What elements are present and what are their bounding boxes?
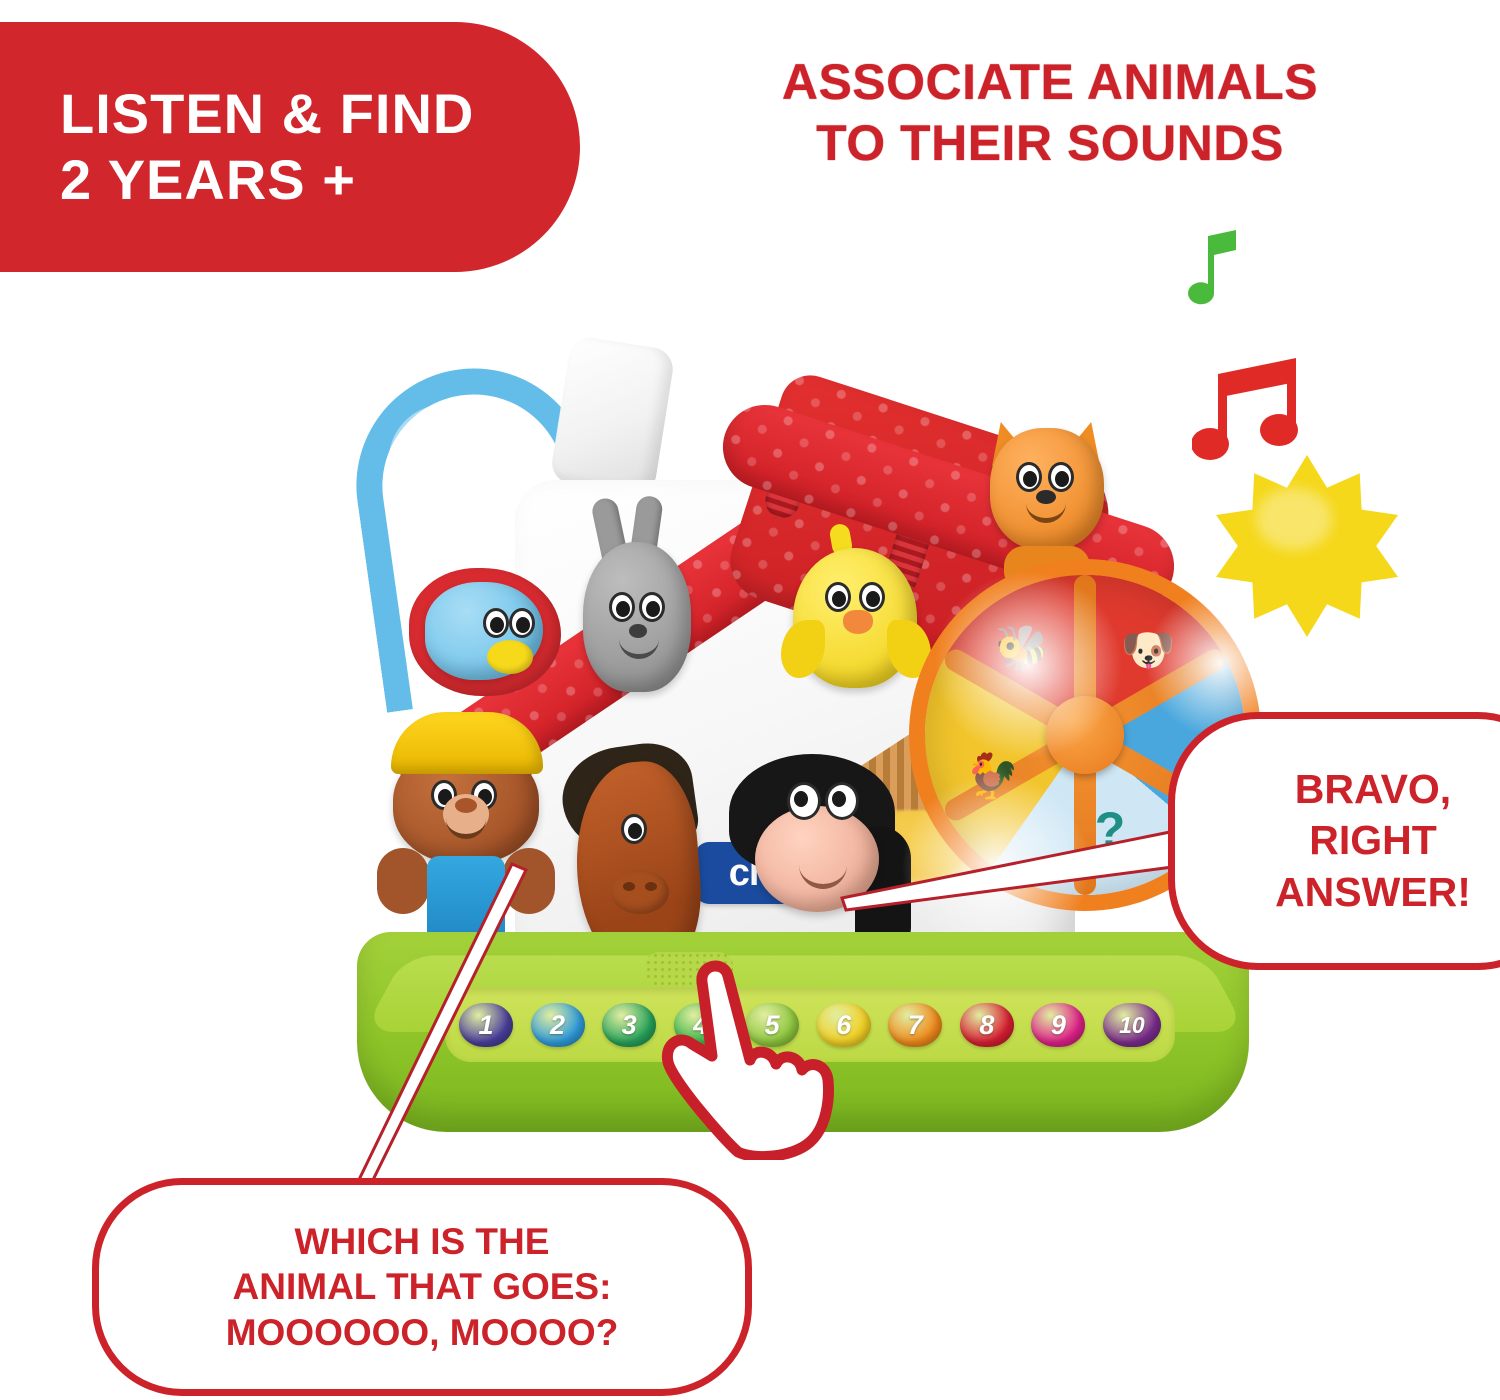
banner-line-1: LISTEN & FIND: [60, 81, 580, 147]
rooster-icon: 🐓: [957, 741, 1027, 811]
question-bubble: WHICH IS THE ANIMAL THAT GOES: MOOOOOO, …: [92, 1178, 752, 1396]
pointing-hand-cursor: [650, 960, 860, 1160]
bee-icon: 🐝: [987, 613, 1057, 683]
wheel-hub: [1046, 696, 1124, 774]
product-feature-image: chicco: [0, 0, 1500, 1400]
pointer-to-bear: [330, 860, 570, 1200]
bravo-bubble: BRAVO, RIGHT ANSWER!: [1168, 712, 1500, 970]
number-key[interactable]: 3: [602, 1003, 656, 1047]
chick-figure[interactable]: [793, 548, 917, 688]
question-line-2: ANIMAL THAT GOES:: [226, 1264, 619, 1309]
double-music-note-icon: [1192, 358, 1314, 470]
bear-farmer-figure[interactable]: [393, 746, 539, 864]
bird-figure[interactable]: [425, 582, 543, 680]
question-line-1: WHICH IS THE: [226, 1219, 619, 1264]
headline-line-2: TO THEIR SOUNDS: [700, 113, 1400, 174]
banner-line-2: 2 YEARS +: [60, 147, 580, 213]
cat-figure[interactable]: [990, 428, 1104, 550]
chimney: [549, 335, 676, 498]
page-title: ASSOCIATE ANIMALS TO THEIR SOUNDS: [700, 52, 1400, 174]
dog-icon: 🐶: [1113, 615, 1183, 685]
question-line-3: MOOOOOO, MOOOO?: [226, 1310, 619, 1355]
number-key[interactable]: 7: [888, 1003, 942, 1047]
number-key[interactable]: 9: [1031, 1003, 1085, 1047]
rabbit-figure[interactable]: [583, 542, 691, 692]
bravo-line-2: RIGHT: [1275, 815, 1471, 866]
bravo-line-1: BRAVO,: [1275, 764, 1471, 815]
age-banner: LISTEN & FIND 2 YEARS +: [0, 22, 580, 272]
number-key[interactable]: 10: [1103, 1003, 1161, 1047]
pointer-to-cow: [840, 826, 1190, 946]
headline-line-1: ASSOCIATE ANIMALS: [700, 52, 1400, 113]
music-note-icon: [1178, 228, 1250, 316]
number-key[interactable]: 8: [960, 1003, 1014, 1047]
bravo-line-3: ANSWER!: [1275, 867, 1471, 918]
bird-beak: [487, 640, 533, 674]
